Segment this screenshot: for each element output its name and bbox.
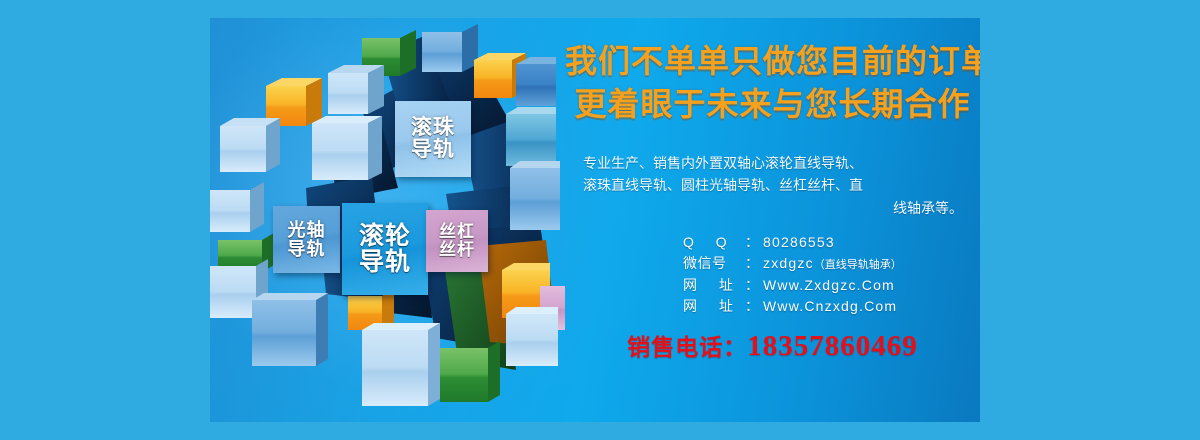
tile-line-2: 丝杆 [439,241,475,259]
tile-line-1: 滚轮 [359,223,411,249]
website2-separator: ： [745,296,759,317]
description-line-3: 线轴承等。 [583,197,963,219]
banner-content: 我们不单单只做您目前的订单 更着眼于未来与您长期合作 专业生产、销售内外置双轴心… [565,18,980,422]
product-tile-guangzhou-daogui[interactable]: 光轴 导轨 [273,206,340,273]
website1-value[interactable]: Www.Zxdgzc.Com [763,275,895,296]
contact-block: Q Q ： 80286553 微信号 ： zxdgzc （直线导轨轴承） 网 址… [683,232,980,317]
phone-number[interactable]: 18357860469 [747,330,918,362]
tile-line-2: 导轨 [359,249,411,275]
product-tile-sigang-sigan[interactable]: 丝杠 丝杆 [426,210,488,272]
description-text: 专业生产、销售内外置双轴心滚轮直线导轨、 滚珠直线导轨、圆柱光轴导轨、丝杠丝杆、… [583,152,963,219]
product-tile-gunlun-daogui[interactable]: 滚轮 导轨 [342,203,428,295]
tile-line-1: 滚珠 [411,117,455,139]
qq-value[interactable]: 80286553 [763,232,835,253]
contact-row-website-1: 网 址 ： Www.Zxdgzc.Com [683,275,980,296]
website1-label: 网 址 [683,275,745,296]
headline-line-1: 我们不单单只做您目前的订单 [565,40,980,83]
contact-row-wechat: 微信号 ： zxdgzc （直线导轨轴承） [683,253,980,274]
tile-line-2: 导轨 [288,240,326,259]
promo-banner: 滚珠 导轨 光轴 导轨 滚轮 导轨 丝杠 丝杆 我们不单单只做您目前的订单 更着… [210,18,980,422]
wechat-value[interactable]: zxdgzc [763,253,814,274]
wechat-label: 微信号 [683,253,745,274]
phone-label: 销售电话： [627,334,747,360]
description-line-2: 滚珠直线导轨、圆柱光轴导轨、丝杠丝杆、直 [583,174,963,196]
headline-line-2: 更着眼于未来与您长期合作 [565,83,980,126]
headline: 我们不单单只做您目前的订单 更着眼于未来与您长期合作 [565,40,980,125]
wechat-note: （直线导轨轴承） [814,257,902,274]
tile-line-1: 丝杠 [439,223,475,241]
tile-line-1: 光轴 [288,221,326,240]
contact-row-qq: Q Q ： 80286553 [683,232,980,253]
website2-value[interactable]: Www.Cnzxdg.Com [763,296,897,317]
qq-separator: ： [745,232,759,253]
description-line-1: 专业生产、销售内外置双轴心滚轮直线导轨、 [583,152,963,174]
wechat-separator: ： [745,253,759,274]
qq-label: Q Q [683,232,745,253]
banner-stage: 滚珠 导轨 光轴 导轨 滚轮 导轨 丝杠 丝杆 我们不单单只做您目前的订单 更着… [0,0,1200,440]
tile-line-2: 导轨 [411,139,455,161]
website1-separator: ： [745,275,759,296]
contact-row-website-2: 网 址 ： Www.Cnzxdg.Com [683,296,980,317]
product-tile-gunzhu-daogui[interactable]: 滚珠 导轨 [395,101,471,177]
sales-phone[interactable]: 销售电话：18357860469 [565,328,980,363]
website2-label: 网 址 [683,296,745,317]
